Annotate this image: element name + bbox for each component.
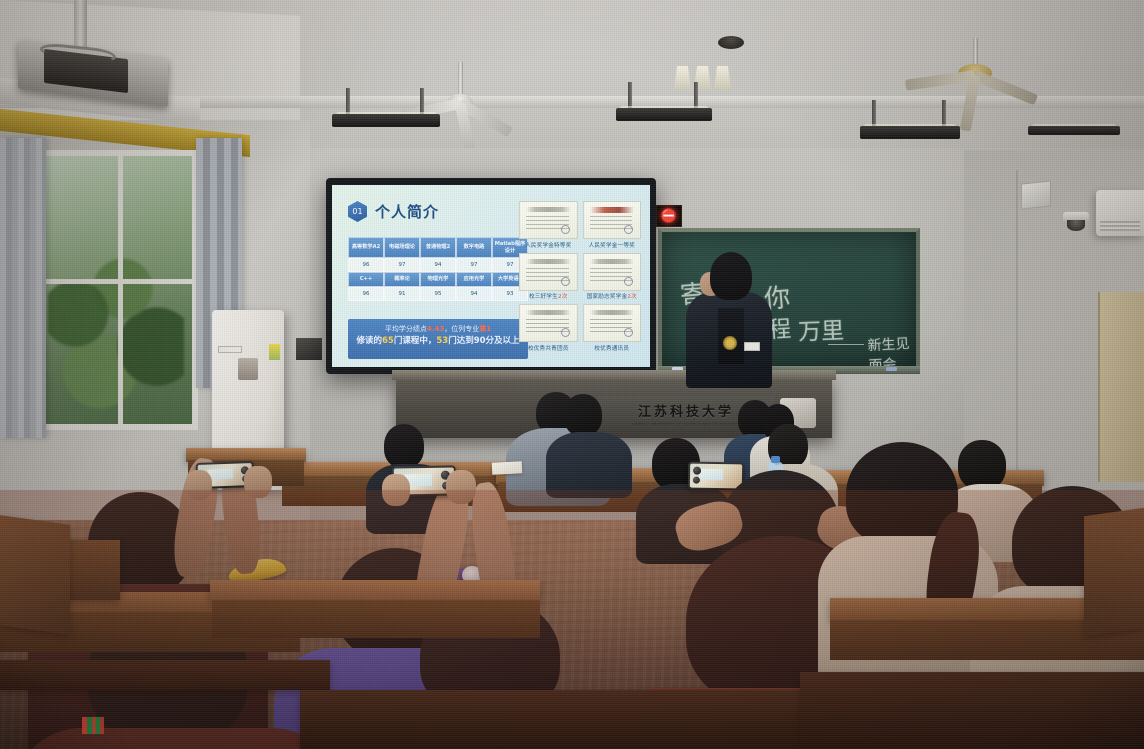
presenter-name-tag — [744, 342, 760, 351]
slide-header: 01 个人简介 — [348, 201, 439, 222]
presentation-screen: 01 个人简介 高等数学A2 电磁场理论 普通物理2 数字电路 Matlab程序… — [326, 178, 656, 374]
table-row: 高等数学A2 电磁场理论 普通物理2 数字电路 Matlab程序设计 — [348, 237, 528, 258]
curtain-left — [0, 138, 46, 438]
certificate-image — [583, 253, 642, 291]
presenter-hair — [710, 252, 752, 300]
table-cell: 数字电路 — [456, 237, 492, 258]
chalk-signature-rule — [828, 344, 864, 345]
certificate-item: 校三好学生2次 — [519, 253, 578, 301]
dome-security-camera — [1063, 212, 1089, 230]
gpa-summary-box: 平均学分绩点4.43，位列专业第1 修读的65门课程中，53门达到90分及以上 — [348, 319, 528, 359]
table-cell: 96 — [348, 258, 384, 272]
front-bench-left — [0, 660, 330, 690]
smartphone-camera[interactable] — [688, 462, 744, 491]
certificate-caption: 人民奖学金特等奖 — [519, 241, 578, 249]
suspended-light-left — [332, 88, 440, 132]
table-cell: 97 — [384, 258, 420, 272]
gpa-summary-line1: 平均学分绩点4.43，位列专业第1 — [352, 324, 524, 335]
hand-left-holding-phone — [382, 474, 410, 506]
right-door-panel — [1098, 292, 1144, 482]
suspended-light-center — [616, 82, 712, 126]
courses-total: 65 — [382, 336, 394, 346]
certificate-caption: 人民奖学金一等奖 — [583, 241, 642, 249]
paper-notes — [492, 461, 523, 475]
table-cell: C++ — [348, 272, 384, 287]
hand-right-holding-phone — [244, 466, 272, 498]
courses-prefix: 修读的 — [356, 336, 382, 346]
classroom-photo: 01 个人简介 高等数学A2 电磁场理论 普通物理2 数字电路 Matlab程序… — [0, 0, 1144, 749]
window-foliage — [48, 247, 184, 413]
certificate-caption: 校三好学生2次 — [519, 292, 578, 300]
table-cell: 概率论 — [384, 272, 420, 287]
rank-label: ，位列专业 — [444, 325, 479, 333]
chalk-stick — [886, 367, 897, 371]
table-cell: 应用光学 — [456, 272, 492, 287]
table-cell: 91 — [384, 287, 420, 301]
desk-front-row-front-center — [212, 600, 540, 638]
certificate-caption: 国家励志奖学金2次 — [583, 292, 642, 300]
courses-mid: 门课程中， — [394, 336, 437, 346]
front-bench-center — [300, 690, 820, 749]
certificate-image — [519, 201, 578, 239]
chalk-text-line: 万里 — [797, 311, 844, 347]
certificate-image — [519, 253, 578, 291]
presenter-shirt-logo — [722, 336, 738, 350]
university-name-en: JIANGSU UNIVERSITY OF SCIENCE AND TECHNO… — [632, 422, 739, 426]
table-cell: 94 — [420, 258, 456, 272]
wall-electrical-box — [296, 338, 322, 360]
suspended-light-right — [860, 100, 960, 144]
certificate-item: 人民奖学金一等奖 — [583, 201, 642, 249]
slide-content: 01 个人简介 高等数学A2 电磁场理论 普通物理2 数字电路 Matlab程序… — [332, 185, 650, 367]
certificates-grid: 人民奖学金特等奖 人民奖学金一等奖 校三好学生2次 国家励志奖学金2次 校优秀共… — [519, 201, 641, 352]
courses-high: 53 — [436, 336, 448, 346]
table-cell: 物理光学 — [420, 272, 456, 287]
table-cell: 电磁场理论 — [384, 237, 420, 258]
certificate-caption: 校优秀通讯员 — [583, 344, 642, 352]
certificate-image — [583, 304, 642, 342]
no-entry-icon: ⛔ — [661, 209, 677, 224]
grades-table: 高等数学A2 电磁场理论 普通物理2 数字电路 Matlab程序设计 96 97… — [348, 237, 528, 301]
certificate-item: 国家励志奖学金2次 — [583, 253, 642, 301]
table-cell: 高等数学A2 — [348, 237, 384, 258]
left-window — [38, 150, 198, 430]
certificate-item: 校优秀通讯员 — [583, 304, 642, 352]
gpa-label: 平均学分绩点 — [385, 325, 427, 333]
certificate-item: 校优秀共青团员 — [519, 304, 578, 352]
smoke-detector — [718, 36, 744, 49]
rank-value: 第1 — [479, 325, 491, 333]
courses-suffix: 门达到90分及以上 — [448, 336, 519, 346]
certificate-image — [583, 201, 642, 239]
hand-right-holding-phone — [446, 470, 476, 504]
table-row: 96 97 94 97 97 — [348, 258, 528, 272]
certificate-item: 人民奖学金特等奖 — [519, 201, 578, 249]
emergency-exit-led-sign: ⛔ — [656, 205, 682, 227]
hand-left-holding-phone — [186, 470, 212, 500]
suspended-light-far-right — [1028, 118, 1120, 148]
slide-title: 个人简介 — [375, 201, 439, 222]
table-row: 96 91 95 94 93 — [348, 287, 528, 301]
gpa-value: 4.43 — [427, 325, 444, 333]
desk-row-front-center — [210, 580, 540, 602]
slide-badge: 01 — [348, 201, 367, 222]
seat-back-left — [0, 515, 70, 635]
certificate-image — [519, 304, 578, 342]
table-cell: 95 — [420, 287, 456, 301]
table-row: C++ 概率论 物理光学 应用光学 大学英语4 — [348, 272, 528, 287]
front-bench-right — [800, 672, 1144, 749]
table-cell: 97 — [456, 258, 492, 272]
certificate-caption: 校优秀共青团员 — [519, 344, 578, 352]
corner-color-mark — [82, 717, 104, 734]
wall-speaker — [1021, 180, 1051, 209]
gpa-summary-line2: 修读的65门课程中，53门达到90分及以上 — [352, 335, 524, 349]
table-cell: 96 — [348, 287, 384, 301]
wall-ac-unit — [1096, 190, 1144, 236]
table-cell: 94 — [456, 287, 492, 301]
wall-seam — [1016, 170, 1018, 470]
university-name-cn: 江苏科技大学 — [638, 401, 734, 420]
seat-back-right — [1084, 508, 1144, 636]
table-cell: 普通物理2 — [420, 237, 456, 258]
